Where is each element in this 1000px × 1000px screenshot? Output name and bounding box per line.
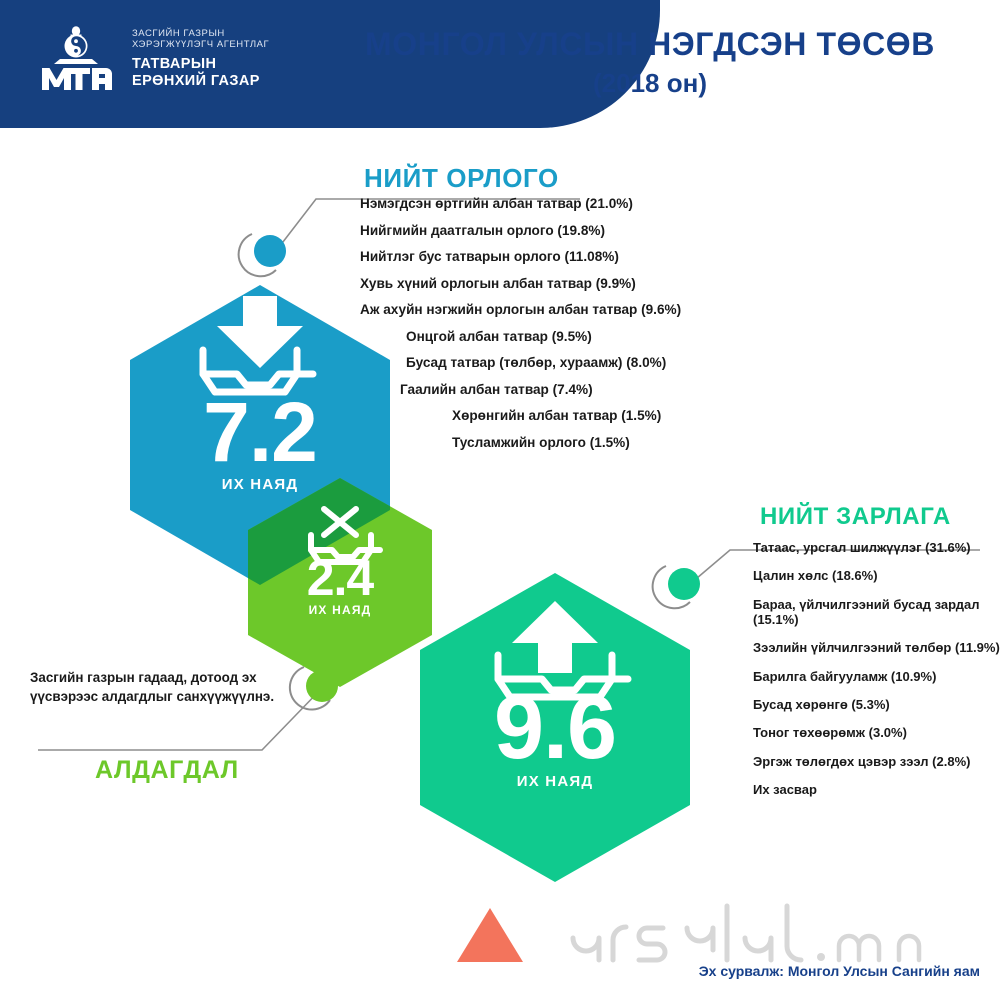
list-item: Их засвар bbox=[753, 782, 1000, 797]
loss-section-heading: АЛДАГДАЛ bbox=[95, 756, 239, 785]
list-item: Бусад хөрөнгө (5.3%) bbox=[753, 697, 1000, 712]
list-item: Тусламжийн орлого (1.5%) bbox=[360, 435, 790, 450]
list-item: Нийтлэг бус татварын орлого (11.08%) bbox=[360, 249, 790, 264]
list-item: Нэмэгдсэн өртгийн албан татвар (21.0%) bbox=[360, 196, 790, 211]
expense-list: Татаас, урсгал шилжүүлэг (31.6%) Цалин х… bbox=[753, 540, 1000, 810]
list-item: Бусад татвар (төлбөр, хураамж) (8.0%) bbox=[360, 355, 790, 370]
list-item: Хөрөнгийн албан татвар (1.5%) bbox=[360, 408, 790, 423]
infographic-root: ЗАСГИЙН ГАЗРЫН ХЭРЭГЖҮҮЛЭГЧ АГЕНТЛАГ ТАТ… bbox=[0, 0, 1000, 1000]
income-hex-value: 7.2 bbox=[160, 390, 360, 474]
list-item: Аж ахуйн нэгжийн орлогын албан татвар (9… bbox=[360, 302, 790, 317]
list-item: Онцгой албан татвар (9.5%) bbox=[360, 329, 790, 344]
list-item: Бараа, үйлчилгээний бусад зардал (15.1%) bbox=[753, 597, 1000, 628]
hexagon-group bbox=[0, 0, 1000, 1000]
list-item: Зээлийн үйлчилгээний төлбөр (11.9%) bbox=[753, 640, 1000, 655]
list-item: Хувь хүний орлогын албан татвар (9.9%) bbox=[360, 276, 790, 291]
loss-hex-unit: ИХ НАЯД bbox=[265, 603, 415, 617]
expense-hex-unit: ИХ НАЯД bbox=[455, 773, 655, 790]
expense-hex-value: 9.6 bbox=[455, 683, 655, 773]
list-item: Нийгмийн даатгалын орлого (19.8%) bbox=[360, 223, 790, 238]
arslan-watermark bbox=[455, 900, 985, 970]
watermark-triangle-icon bbox=[457, 908, 523, 962]
list-item: Тоног төхөөрөмж (3.0%) bbox=[753, 725, 1000, 740]
expense-section-heading: НИЙТ ЗАРЛАГА bbox=[760, 503, 951, 531]
list-item: Эргэж төлөгдөх цэвэр зээл (2.8%) bbox=[753, 754, 1000, 769]
income-hex-unit: ИХ НАЯД bbox=[160, 476, 360, 493]
loss-description: Засгийн газрын гадаад, дотоод эх үүсвэрэ… bbox=[30, 668, 280, 706]
list-item: Цалин хөлс (18.6%) bbox=[753, 568, 1000, 583]
list-item: Гаалийн албан татвар (7.4%) bbox=[360, 382, 790, 397]
loss-hex-value: 2.4 bbox=[265, 553, 415, 603]
income-section-heading: НИЙТ ОРЛОГО bbox=[364, 163, 559, 194]
list-item: Татаас, урсгал шилжүүлэг (31.6%) bbox=[753, 540, 1000, 555]
income-list: Нэмэгдсэн өртгийн албан татвар (21.0%) Н… bbox=[360, 196, 790, 461]
source-credit: Эх сурвалж: Монгол Улсын Сангийн яам bbox=[699, 963, 980, 979]
list-item: Барилга байгууламж (10.9%) bbox=[753, 669, 1000, 684]
